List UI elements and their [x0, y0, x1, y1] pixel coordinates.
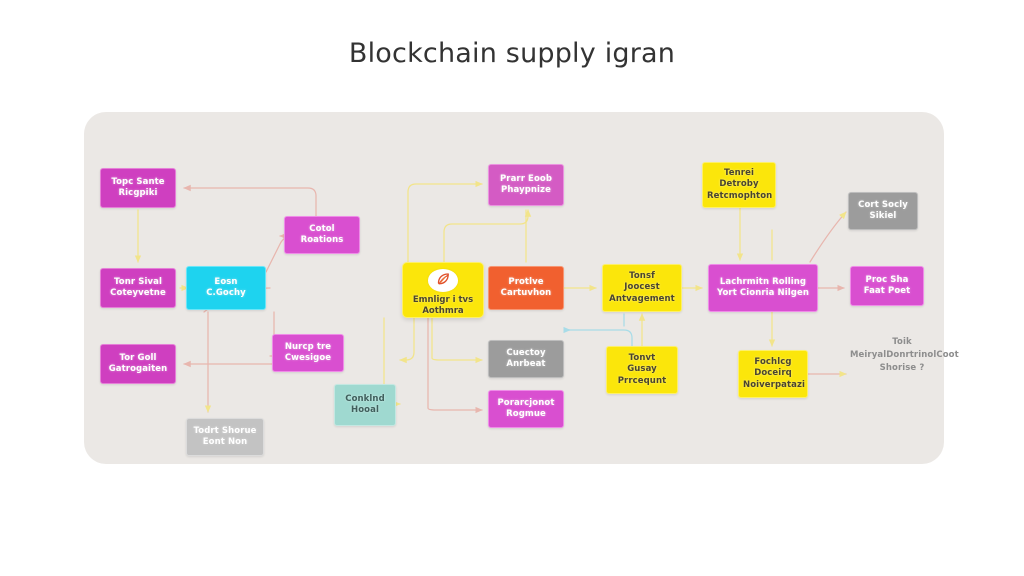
diagram-node-n4[interactable]: EosnC.Gochy: [186, 266, 266, 310]
diagram-node-n10[interactable]: ProtlveCartuvhon: [488, 266, 564, 310]
diagram-node-n3[interactable]: Tor GollGatrogaiten: [100, 344, 176, 384]
diagram-node-n5[interactable]: CotolRoations: [284, 216, 360, 254]
diagram-node-label: Proc ShaFaat Poet: [855, 275, 919, 297]
diagram-node-label: EosnC.Gochy: [191, 277, 261, 299]
diagram-node-n13[interactable]: TonsfJoocestAntvagement: [602, 264, 682, 312]
diagram-node-n19[interactable]: Proc ShaFaat Poet: [850, 266, 924, 306]
diagram-node-label: PorarcjonotRogmue: [493, 398, 559, 420]
diagram-node-label: Topc SanteRicgpiki: [105, 177, 171, 199]
diagram-node-n11[interactable]: CuectoyAnrbeat: [488, 340, 564, 378]
hub-node-label: Emnligr i tvs Aothmra: [403, 295, 483, 317]
diagram-node-label: CuectoyAnrbeat: [493, 348, 559, 370]
diagram-node-n9[interactable]: Prarr EoobPhaypnize: [488, 164, 564, 206]
diagram-canvas: Emnligr i tvs Aothmra Toik MeiryalDonrtr…: [84, 112, 944, 464]
diagram-node-n6[interactable]: Nurcp treCwesigoe: [272, 334, 344, 372]
diagram-node-n12[interactable]: PorarcjonotRogmue: [488, 390, 564, 428]
diagram-node-label: ConklndHooal: [339, 394, 391, 416]
leaf-arrow-icon: [428, 269, 458, 292]
diagram-node-label: Prarr EoobPhaypnize: [493, 174, 559, 196]
diagram-node-label: Nurcp treCwesigoe: [277, 342, 339, 364]
diagram-node-n17[interactable]: FochlcgDoceirqNoiverpatazi: [738, 350, 808, 398]
diagram-node-n7[interactable]: Todrt ShorueEont Non: [186, 418, 264, 456]
diagram-node-n1[interactable]: Topc SanteRicgpiki: [100, 168, 176, 208]
diagram-node-label: Tor GollGatrogaiten: [105, 353, 171, 375]
diagram-node-label: FochlcgDoceirqNoiverpatazi: [743, 357, 803, 391]
diagram-node-n18[interactable]: Cort SoclySikiel: [848, 192, 918, 230]
diagram-node-label: TonvtGusayPrrcequnt: [611, 353, 673, 387]
hub-node[interactable]: Emnligr i tvs Aothmra: [402, 262, 484, 318]
diagram-node-n16[interactable]: Lachrmitn RollingYort Cionria Nilgen: [708, 264, 818, 312]
diagram-node-label: Todrt ShorueEont Non: [191, 426, 259, 448]
diagram-node-n15[interactable]: TenreiDetrobyRetcmophton: [702, 162, 776, 208]
diagram-node-label: CotolRoations: [289, 224, 355, 246]
diagram-node-n2[interactable]: Tonr SivalCoteyvetne: [100, 268, 176, 308]
diagram-node-label: ProtlveCartuvhon: [493, 277, 559, 299]
diagram-node-n8[interactable]: ConklndHooal: [334, 384, 396, 426]
floating-note: Toik MeiryalDonrtrinolCoot Shorise ?: [850, 336, 954, 374]
page-title: Blockchain supply igran: [0, 38, 1024, 69]
diagram-node-label: Lachrmitn RollingYort Cionria Nilgen: [713, 277, 813, 299]
diagram-node-label: Cort SoclySikiel: [853, 200, 913, 222]
diagram-node-label: TonsfJoocestAntvagement: [607, 271, 677, 305]
diagram-node-n14[interactable]: TonvtGusayPrrcequnt: [606, 346, 678, 394]
diagram-node-label: TenreiDetrobyRetcmophton: [707, 168, 771, 202]
diagram-node-label: Tonr SivalCoteyvetne: [105, 277, 171, 299]
